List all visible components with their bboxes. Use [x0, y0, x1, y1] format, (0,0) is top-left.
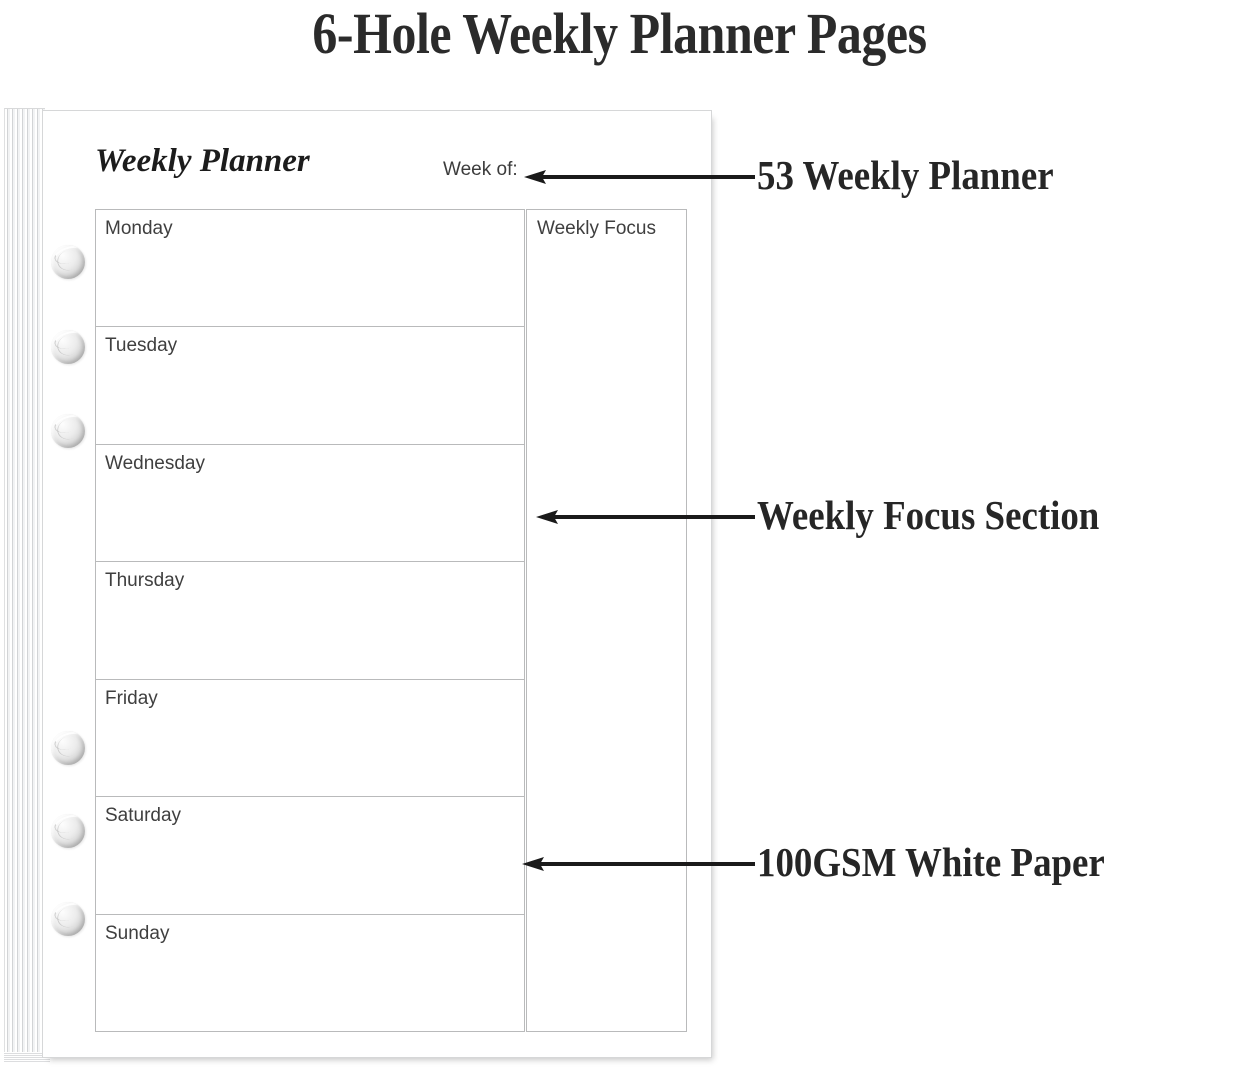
week-of-label: Week of:: [443, 159, 518, 181]
day-row-friday[interactable]: Friday: [96, 680, 524, 797]
day-label: Tuesday: [105, 335, 524, 357]
day-row-sunday[interactable]: Sunday: [96, 915, 524, 1031]
day-row-monday[interactable]: Monday: [96, 210, 524, 327]
binder-hole: [51, 330, 85, 364]
days-grid: Monday Tuesday Wednesday Thursday Friday…: [95, 209, 525, 1032]
planner-page: Weekly Planner Week of: Monday Tuesday W…: [42, 110, 712, 1058]
day-label: Monday: [105, 218, 524, 240]
callout-arrow-icon: [520, 166, 755, 188]
callout-arrow-icon: [518, 853, 755, 875]
day-row-wednesday[interactable]: Wednesday: [96, 445, 524, 562]
annotation-paper-weight: 100GSM White Paper: [757, 840, 1105, 884]
planner-title: Weekly Planner: [95, 143, 310, 180]
day-row-tuesday[interactable]: Tuesday: [96, 327, 524, 444]
binder-hole: [51, 414, 85, 448]
day-row-thursday[interactable]: Thursday: [96, 562, 524, 679]
day-label: Wednesday: [105, 453, 524, 475]
binder-hole: [51, 814, 85, 848]
annotation-weekly-planner-count: 53 Weekly Planner: [757, 153, 1054, 197]
annotation-weekly-focus-section: Weekly Focus Section: [757, 493, 1099, 537]
binder-hole: [51, 731, 85, 765]
weekly-focus-label: Weekly Focus: [537, 218, 686, 240]
paper-stack-edge: [4, 108, 45, 1061]
day-label: Saturday: [105, 805, 524, 827]
day-row-saturday[interactable]: Saturday: [96, 797, 524, 914]
day-label: Thursday: [105, 570, 524, 592]
day-label: Sunday: [105, 923, 524, 945]
binder-hole: [51, 902, 85, 936]
weekly-focus-box[interactable]: Weekly Focus: [526, 209, 687, 1032]
page-headline: 6-Hole Weekly Planner Pages: [87, 2, 1153, 66]
callout-arrow-icon: [532, 506, 755, 528]
day-label: Friday: [105, 688, 524, 710]
binder-hole: [51, 245, 85, 279]
